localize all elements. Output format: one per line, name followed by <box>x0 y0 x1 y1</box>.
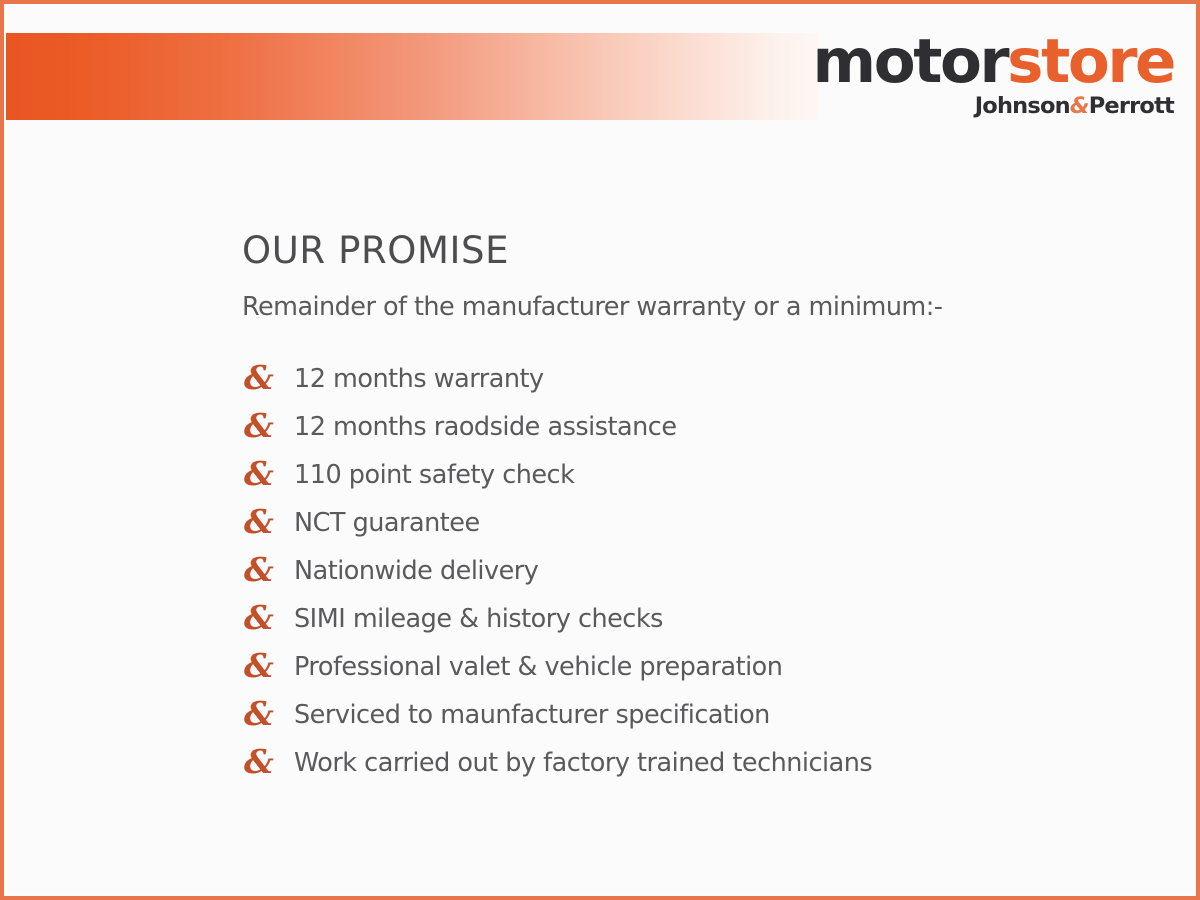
list-item: & Nationwide delivery <box>242 547 1142 595</box>
promise-content: OUR PROMISE Remainder of the manufacture… <box>242 232 1142 787</box>
logo-subtitle-perrott: Perrott <box>1089 93 1174 119</box>
list-item: & 12 months warranty <box>242 355 1142 403</box>
logo-subtitle-johnson: Johnson <box>975 93 1070 119</box>
logo-subtitle: Johnson&Perrott <box>813 95 1174 118</box>
list-item-label: Nationwide delivery <box>294 557 538 585</box>
ampersand-bullet-icon: & <box>242 697 294 730</box>
ampersand-bullet-icon: & <box>242 601 294 634</box>
ampersand-bullet-icon: & <box>242 457 294 490</box>
list-item: & Serviced to maunfacturer specification <box>242 691 1142 739</box>
list-item: & 110 point safety check <box>242 451 1142 499</box>
logo-wordmark: motorstore <box>813 31 1174 92</box>
list-item-label: SIMI mileage & history checks <box>294 605 663 633</box>
orange-gradient-bar <box>4 33 819 120</box>
ampersand-bullet-icon: & <box>242 409 294 442</box>
list-item: & SIMI mileage & history checks <box>242 595 1142 643</box>
list-item-label: 12 months warranty <box>294 365 544 393</box>
promise-list: & 12 months warranty & 12 months raodsid… <box>242 355 1142 787</box>
list-item: & NCT guarantee <box>242 499 1142 547</box>
motorstore-logo: motorstore Johnson&Perrott <box>813 31 1174 118</box>
list-item: & Work carried out by factory trained te… <box>242 739 1142 787</box>
promise-card: motorstore Johnson&Perrott OUR PROMISE R… <box>0 0 1200 900</box>
logo-wordmark-store: store <box>1007 26 1174 97</box>
list-item-label: 12 months raodside assistance <box>294 413 677 441</box>
list-item-label: Work carried out by factory trained tech… <box>294 749 872 777</box>
ampersand-bullet-icon: & <box>242 361 294 394</box>
ampersand-bullet-icon: & <box>242 553 294 586</box>
logo-wordmark-motor: motor <box>813 26 1008 97</box>
list-item-label: Professional valet & vehicle preparation <box>294 653 782 681</box>
list-item-label: Serviced to maunfacturer specification <box>294 701 770 729</box>
list-item-label: 110 point safety check <box>294 461 574 489</box>
list-item: & Professional valet & vehicle preparati… <box>242 643 1142 691</box>
header-band: motorstore Johnson&Perrott <box>4 33 1200 120</box>
ampersand-bullet-icon: & <box>242 745 294 778</box>
promise-subtitle: Remainder of the manufacturer warranty o… <box>242 293 1142 321</box>
page-title: OUR PROMISE <box>242 232 1142 271</box>
logo-ampersand-icon: & <box>1070 93 1089 119</box>
list-item-label: NCT guarantee <box>294 509 480 537</box>
ampersand-bullet-icon: & <box>242 505 294 538</box>
ampersand-bullet-icon: & <box>242 649 294 682</box>
list-item: & 12 months raodside assistance <box>242 403 1142 451</box>
